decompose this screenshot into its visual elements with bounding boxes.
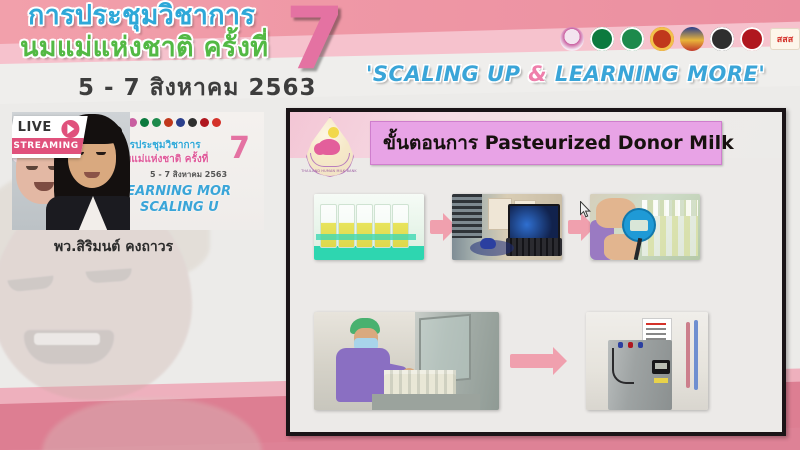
inner-poster-number: 7 <box>229 134 250 164</box>
photo5-power-cord <box>612 348 634 384</box>
inner-logo-3-icon <box>152 118 161 127</box>
photo5-wall-pipe-pink <box>686 322 690 388</box>
slogan-prefix: 'SCALING UP <box>366 62 528 86</box>
edition-number: 7 <box>285 0 345 82</box>
slogan-suffix: LEARNING MORE' <box>547 62 765 86</box>
inner-logo-5-icon <box>176 118 185 127</box>
photo2-blinds <box>452 194 482 238</box>
inner-poster-title-line1: การประชุมวิชาการ <box>118 138 201 153</box>
thaihealth-sss-logo-icon <box>770 28 800 50</box>
slide-stage: การประชุมวิชาการ นมแม่แห่งชาติ ครั้งที่ … <box>0 0 800 450</box>
watermark-teeth <box>34 333 100 345</box>
mouse-cursor <box>580 201 592 219</box>
photo3-bottle-tops <box>642 200 698 216</box>
inner-poster-logo-strip <box>128 118 221 127</box>
slide-title-box: ขั้นตอนการ Pasteurized Donor Milk <box>370 121 722 165</box>
drop-yellow-dot <box>328 127 339 138</box>
thai-pediatric-logo-icon <box>650 27 674 51</box>
slogan-ampersand: & <box>528 62 547 86</box>
photo5-wall-pipe-blue <box>694 320 698 390</box>
speaker-name-caption: พว.สิริมนต์ คงถาวร <box>54 236 173 258</box>
photo4-tray <box>372 394 480 410</box>
sponsor-logo-strip <box>560 27 800 51</box>
photo1-bottle <box>320 204 337 248</box>
milk-bottles-rack-photo <box>314 194 424 260</box>
human-milk-bank-drop-logo-icon: THAILAND HUMAN MILK BANK <box>298 115 360 181</box>
inner-logo-6-icon <box>188 118 197 127</box>
arrow-right-icon <box>568 220 582 234</box>
drop-logo-caption: THAILAND HUMAN MILK BANK <box>300 169 358 173</box>
photo3-timer-display <box>630 220 648 231</box>
photo1-bottle <box>356 204 373 248</box>
photo1-bottle <box>338 204 355 248</box>
royal-college-logo-icon <box>680 27 704 51</box>
photo5-control-panel <box>652 360 670 374</box>
inner-logo-2-icon <box>140 118 149 127</box>
speaker-eye-right <box>96 152 106 155</box>
laptop-workstation-photo <box>452 194 562 260</box>
nurse-loading-bottles-photo <box>314 312 499 410</box>
photo2-laptop-keyboard <box>506 238 562 256</box>
red-seal-logo-icon <box>740 27 764 51</box>
presentation-slide: THAILAND HUMAN MILK BANK ขั้นตอนการ Past… <box>286 108 786 436</box>
live-streaming-badge: LIVE STREAMING <box>12 116 88 158</box>
inner-poster-slogan-line1: LEARNING MOR <box>118 184 231 199</box>
thermometer-timer-photo <box>590 194 700 260</box>
live-badge-sublabel-wrap: STREAMING <box>12 138 84 154</box>
watermark-body <box>42 398 262 450</box>
department-health-logo-icon <box>620 27 644 51</box>
inner-logo-8-icon <box>212 118 221 127</box>
photo5-knob-c <box>638 342 643 348</box>
photo1-rack <box>320 204 416 248</box>
photo1-bottle <box>392 204 409 248</box>
conference-slogan: 'SCALING UP & LEARNING MORE' <box>366 62 786 86</box>
conference-title-line1: การประชุมวิชาการ <box>28 2 310 29</box>
inner-logo-4-icon <box>164 118 173 127</box>
photo2-laptop-screen <box>508 204 560 242</box>
inner-poster-title-line2: นมแม่แห่งชาติ ครั้งที่ <box>118 152 208 167</box>
photo1-shelf <box>316 234 416 240</box>
photo1-bottle <box>374 204 391 248</box>
royal-crown-logo-icon <box>560 27 584 51</box>
ministry-public-health-logo-icon <box>590 27 614 51</box>
inner-poster-graphic: การประชุมวิชาการ นมแม่แห่งชาติ ครั้งที่ … <box>112 112 264 230</box>
play-icon <box>61 120 79 138</box>
photo5-label-sticker <box>654 378 668 383</box>
slide-title: ขั้นตอนการ Pasteurized Donor Milk <box>383 128 734 158</box>
conference-title-line2: นมแม่แห่งชาติ ครั้งที่ <box>20 34 310 61</box>
inner-logo-7-icon <box>200 118 209 127</box>
arrow-right-icon <box>430 220 444 234</box>
pasteurizer-machine-photo <box>586 312 708 410</box>
live-video-thumbnail[interactable]: การประชุมวิชาการ นมแม่แห่งชาติ ครั้งที่ … <box>12 112 264 230</box>
nursing-council-logo-icon <box>710 27 734 51</box>
live-badge-label: LIVE <box>18 120 52 135</box>
live-badge-sublabel: STREAMING <box>13 141 78 151</box>
photo1-floor <box>314 246 424 260</box>
conference-date: 5 - 7 สิงหาคม 2563 <box>78 70 317 106</box>
conference-title: การประชุมวิชาการ นมแม่แห่งชาติ ครั้งที่ <box>20 2 310 61</box>
arrow-right-icon <box>510 354 554 368</box>
inner-poster-slogan-line2: SCALING U <box>140 200 219 215</box>
photo2-mouse <box>480 238 496 249</box>
inner-poster-date: 5 - 7 สิงหาคม 2563 <box>150 168 227 181</box>
